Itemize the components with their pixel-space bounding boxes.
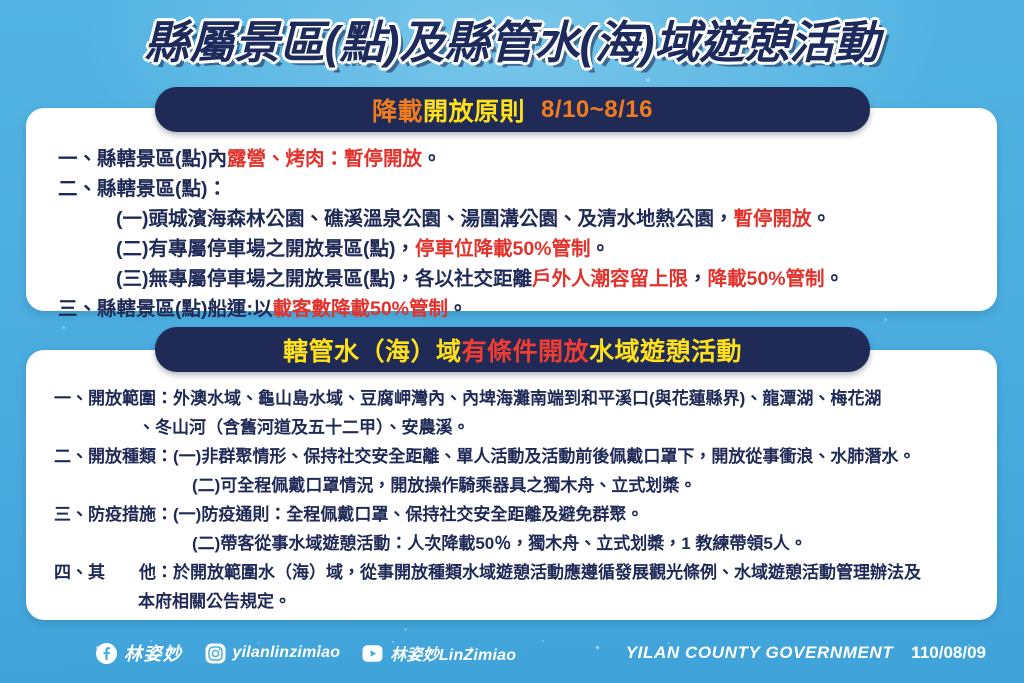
rule-item-2-3: (三)無專屬停車場之開放景區(點)，各以社交距離戶外人潮容留上限，降載50%管制…	[42, 264, 981, 294]
facebook-link[interactable]: 林姿妙	[96, 640, 183, 666]
facebook-icon	[96, 643, 117, 664]
rule-1-text-a: 一、縣轄景區(點)內	[58, 148, 227, 170]
rule-1-text-c: 。	[422, 148, 442, 170]
banner-1-date-range: 8/10~8/16	[541, 96, 653, 124]
rule-2-2-highlight: 停車位降載50%管制	[415, 238, 591, 260]
water-rule-4-text: 四、其 他：於開放範圍水（海）域，從事開放種類水域遊憩活動應遵循發展觀光條例、水…	[54, 563, 921, 582]
government-name: YILAN COUNTY GOVERNMENT	[626, 643, 894, 663]
rule-1-highlight: 露營、烤肉：暫停開放	[227, 148, 422, 170]
rule-2-3-text-e: 。	[825, 268, 845, 290]
water-rule-2-text: 二、開放種類：(一)非群聚情形、保持社交安全距離、單人活動及活動前後佩戴口罩下，…	[54, 447, 915, 466]
banner-reduced-capacity-principles: 降載開放原則8/10~8/16	[155, 87, 870, 132]
rule-3-text-a: 三、縣轄景區(點)船運:以	[58, 298, 272, 320]
water-rule-item-4-cont: 本府相關公告規定。	[42, 587, 981, 616]
water-rule-item-2-2: (二)可全程佩戴口罩情況，開放操作騎乘器具之獨木舟、立式划槳。	[42, 471, 981, 500]
water-rule-4-cont-text: 本府相關公告規定。	[138, 592, 291, 611]
water-rule-1-text: 一、開放範圍：外澳水域、龜山島水域、豆腐岬灣內、內埤海灘南端到和平溪口(與花蓮縣…	[54, 389, 881, 408]
rule-2-1-text-c: 。	[812, 208, 832, 230]
rule-2-3-text-a: (三)無專屬停車場之開放景區(點)，各以社交距離	[116, 268, 532, 290]
section-card-attractions: 一、縣轄景區(點)內露營、烤肉：暫停開放。 二、縣轄景區(點)： (一)頭城濱海…	[26, 108, 997, 311]
rule-item-1: 一、縣轄景區(點)內露營、烤肉：暫停開放。	[42, 144, 981, 174]
instagram-icon	[205, 643, 226, 664]
water-rule-item-1: 一、開放範圍：外澳水域、龜山島水域、豆腐岬灣內、內埤海灘南端到和平溪口(與花蓮縣…	[42, 384, 981, 413]
banner-1-part-orange: 降載	[372, 92, 423, 128]
page-title: 縣屬景區(點)及縣管水(海)域遊憩活動	[0, 12, 1024, 74]
rule-item-2: 二、縣轄景區(點)：	[42, 174, 981, 204]
banner-2-part-yellow-1: 轄管水（海）域	[283, 332, 462, 368]
rule-item-2-2: (二)有專屬停車場之開放景區(點)，停車位降載50%管制。	[42, 234, 981, 264]
sparkle-dot	[62, 326, 65, 329]
social-links: 林姿妙 yilanlinzimiao	[96, 640, 516, 666]
water-rule-item-1-cont: 、冬山河（含舊河道及五十二甲）、安農溪。	[42, 413, 981, 442]
rule-2-2-text-c: 。	[591, 238, 611, 260]
banner-1-part-yellow: 開放原則	[423, 92, 525, 128]
rule-item-2-1: (一)頭城濱海森林公園、礁溪溫泉公園、湯圍溝公園、及清水地熱公園，暫停開放。	[42, 204, 981, 234]
instagram-link[interactable]: yilanlinzimiao	[205, 643, 341, 664]
rule-2-3-highlight-a: 戶外人潮容留上限	[532, 268, 688, 290]
rule-2-3-highlight-b: 降載50%管制	[708, 268, 825, 290]
poster-root: 縣屬景區(點)及縣管水(海)域遊憩活動 一、縣轄景區(點)內露營、烤肉：暫停開放…	[0, 0, 1024, 683]
rule-3-text-c: 。	[448, 298, 468, 320]
rule-2-1-highlight: 暫停開放	[734, 208, 812, 230]
water-rule-item-3: 三、防疫措施：(一)防疫通則：全程佩戴口罩、保持社交安全距離及避免群聚。	[42, 500, 981, 529]
water-rule-item-2: 二、開放種類：(一)非群聚情形、保持社交安全距離、單人活動及活動前後佩戴口罩下，…	[42, 442, 981, 471]
rule-2-1-text-a: (一)頭城濱海森林公園、礁溪溫泉公園、湯圍溝公園、及清水地熱公園，	[116, 208, 734, 230]
rule-3-highlight: 載客數降載50%管制	[272, 298, 448, 320]
rule-item-3: 三、縣轄景區(點)船運:以載客數降載50%管制。	[42, 294, 981, 324]
rule-2-3-text-c: ，	[688, 268, 708, 290]
banner-2-part-yellow-2: 水域遊憩活動	[589, 332, 742, 368]
water-rule-2-2-text: (二)可全程佩戴口罩情況，開放操作騎乘器具之獨木舟、立式划槳。	[192, 476, 696, 495]
section-card-water-activities: 一、開放範圍：外澳水域、龜山島水域、豆腐岬灣內、內埤海灘南端到和平溪口(與花蓮縣…	[26, 350, 997, 620]
water-rule-item-3-2: (二)帶客從事水域遊憩活動：人次降載50％，獨木舟、立式划槳，1 教練帶領5人。	[42, 529, 981, 558]
water-rule-3-2-text: (二)帶客從事水域遊憩活動：人次降載50％，獨木舟、立式划槳，1 教練帶領5人。	[192, 534, 807, 553]
rule-2-text: 二、縣轄景區(點)：	[58, 178, 227, 200]
publish-date: 110/08/09	[911, 643, 986, 663]
facebook-label: 林姿妙	[124, 640, 183, 666]
sparkle-dot	[404, 628, 407, 631]
banner-2-part-red: 有條件開放	[461, 332, 589, 368]
government-credit: YILAN COUNTY GOVERNMENT 110/08/09	[626, 643, 986, 663]
water-rule-item-4: 四、其 他：於開放範圍水（海）域，從事開放種類水域遊憩活動應遵循發展觀光條例、水…	[42, 558, 981, 587]
youtube-icon	[362, 643, 383, 664]
water-rule-1-cont-text: 、冬山河（含舊河道及五十二甲）、安農溪。	[138, 418, 470, 437]
youtube-label: 林姿妙LinZimiao	[390, 641, 516, 665]
youtube-link[interactable]: 林姿妙LinZimiao	[362, 641, 516, 665]
sparkle-dot	[646, 78, 650, 82]
water-rule-3-text: 三、防疫措施：(一)防疫通則：全程佩戴口罩、保持社交安全距離及避免群聚。	[54, 505, 643, 524]
banner-water-area-activities: 轄管水（海）域有條件開放水域遊憩活動	[155, 327, 870, 372]
instagram-label: yilanlinzimiao	[233, 644, 341, 662]
footer: 林姿妙 yilanlinzimiao	[0, 633, 1024, 673]
rule-2-2-text-a: (二)有專屬停車場之開放景區(點)，	[116, 238, 415, 260]
